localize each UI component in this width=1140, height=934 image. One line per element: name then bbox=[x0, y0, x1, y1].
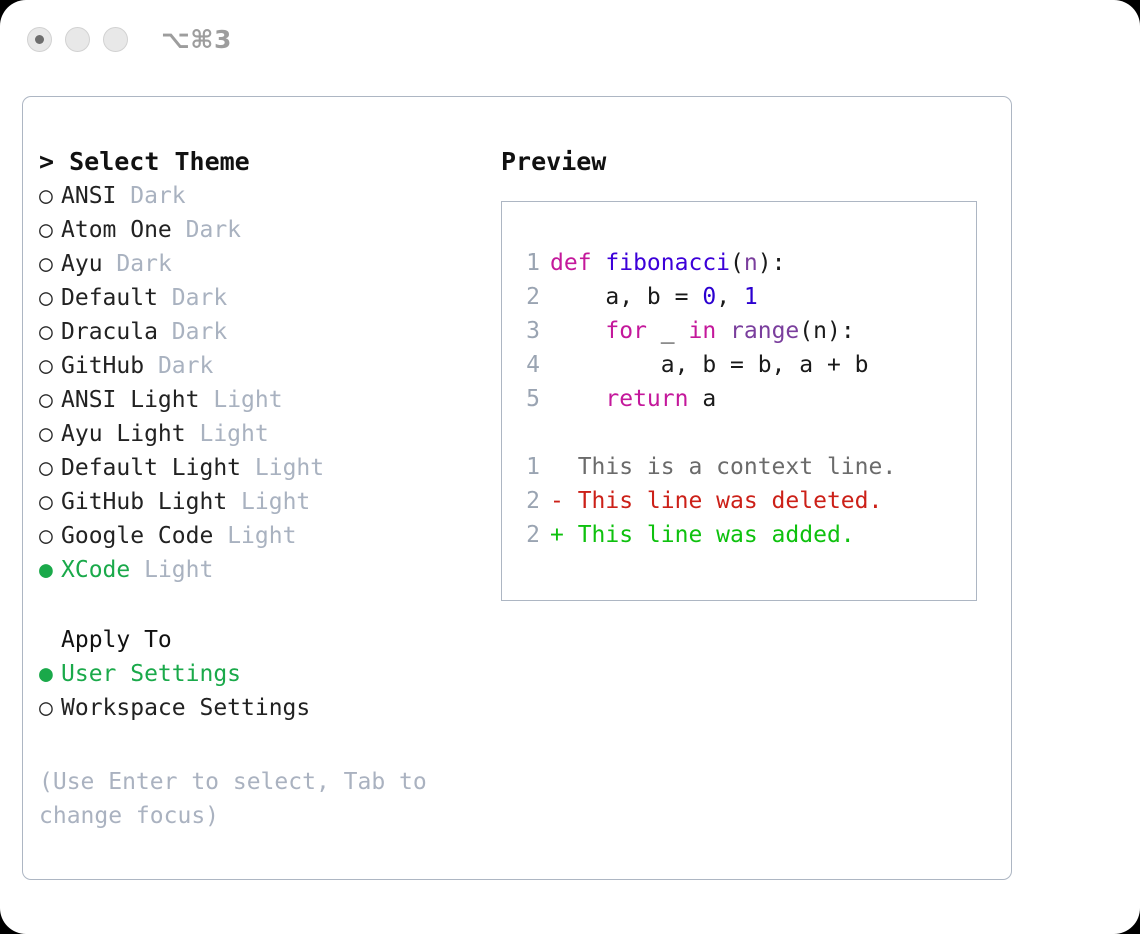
code-token-plain bbox=[550, 386, 605, 412]
theme-name: ANSI Light bbox=[61, 383, 199, 417]
theme-name: Default Light bbox=[61, 451, 241, 485]
radio-unselected-icon: ○ bbox=[39, 417, 61, 451]
theme-list-item[interactable]: ○ANSI Dark bbox=[39, 179, 499, 213]
diff-line: 2- This line was deleted. bbox=[502, 484, 976, 518]
theme-variant-badge: Light bbox=[144, 553, 213, 587]
preview-heading: Preview bbox=[501, 145, 1001, 179]
theme-label-gap bbox=[199, 383, 213, 417]
theme-list-item[interactable]: ○GitHub Light Light bbox=[39, 485, 499, 519]
apply-to-option-label: Workspace Settings bbox=[61, 691, 310, 725]
code-line: 2 a, b = 0, 1 bbox=[502, 280, 976, 314]
code-line-content: a, b = 0, 1 bbox=[550, 280, 758, 314]
main-panel: > Select Theme ○ANSI Dark○Atom One Dark○… bbox=[22, 96, 1012, 880]
theme-name: XCode bbox=[61, 553, 130, 587]
theme-list-item[interactable]: ○Default Dark bbox=[39, 281, 499, 315]
theme-variant-badge: Light bbox=[227, 519, 296, 553]
theme-variant-badge: Light bbox=[255, 451, 324, 485]
preview-box: 1def fibonacci(n):2 a, b = 0, 13 for _ i… bbox=[501, 201, 977, 601]
code-token-plain: ( bbox=[730, 250, 744, 276]
theme-variant-badge: Light bbox=[241, 485, 310, 519]
select-theme-heading: > Select Theme bbox=[39, 145, 499, 179]
theme-label-gap bbox=[116, 179, 130, 213]
theme-label-gap bbox=[227, 485, 241, 519]
code-line-number: 3 bbox=[502, 314, 550, 348]
radio-selected-icon: ● bbox=[39, 657, 61, 691]
theme-label-gap bbox=[130, 553, 144, 587]
diff-line-content: + This line was added. bbox=[550, 518, 855, 552]
theme-label-gap bbox=[186, 417, 200, 451]
preview-column: Preview 1def fibonacci(n):2 a, b = 0, 13… bbox=[501, 145, 1001, 601]
theme-list: ○ANSI Dark○Atom One Dark○Ayu Dark○Defaul… bbox=[39, 179, 499, 587]
code-token-plain: a, b = b, a + b bbox=[550, 352, 869, 378]
code-token-kw: return bbox=[605, 386, 688, 412]
apply-to-list: ●User Settings○Workspace Settings bbox=[39, 657, 499, 725]
code-line-content: for _ in range(n): bbox=[550, 314, 855, 348]
code-token-plain: a, b = bbox=[550, 284, 702, 310]
theme-name: ANSI bbox=[61, 179, 116, 213]
radio-unselected-icon: ○ bbox=[39, 691, 61, 725]
code-sample: 1def fibonacci(n):2 a, b = 0, 13 for _ i… bbox=[502, 246, 976, 416]
code-line: 1def fibonacci(n): bbox=[502, 246, 976, 280]
theme-selection-column: > Select Theme ○ANSI Dark○Atom One Dark○… bbox=[39, 145, 499, 833]
code-line-number: 2 bbox=[502, 280, 550, 314]
record-button[interactable] bbox=[27, 27, 52, 52]
code-token-kw: def bbox=[550, 250, 605, 276]
code-diff-separator bbox=[502, 416, 976, 450]
code-line-number: 1 bbox=[502, 246, 550, 280]
diff-line-number: 2 bbox=[502, 484, 550, 518]
code-token-plain bbox=[716, 318, 730, 344]
theme-name: GitHub Light bbox=[61, 485, 227, 519]
apply-to-heading: Apply To bbox=[39, 623, 499, 657]
radio-unselected-icon: ○ bbox=[39, 349, 61, 383]
theme-name: Ayu bbox=[61, 247, 103, 281]
code-token-plain: (n): bbox=[799, 318, 854, 344]
help-text: (Use Enter to select, Tab to change focu… bbox=[39, 765, 459, 833]
code-line-content: a, b = b, a + b bbox=[550, 348, 869, 382]
radio-unselected-icon: ○ bbox=[39, 281, 61, 315]
code-token-plain: , bbox=[716, 284, 744, 310]
theme-label-gap bbox=[158, 315, 172, 349]
theme-variant-badge: Dark bbox=[130, 179, 185, 213]
code-line-number: 5 bbox=[502, 382, 550, 416]
theme-name: Atom One bbox=[61, 213, 172, 247]
code-token-plain: a bbox=[688, 386, 716, 412]
radio-unselected-icon: ○ bbox=[39, 213, 61, 247]
code-line: 5 return a bbox=[502, 382, 976, 416]
code-token-plain: _ bbox=[647, 318, 689, 344]
apply-to-section: Apply To ●User Settings○Workspace Settin… bbox=[39, 623, 499, 725]
radio-unselected-icon: ○ bbox=[39, 315, 61, 349]
code-token-fn: fibonacci bbox=[605, 250, 730, 276]
diff-line-number: 1 bbox=[502, 450, 550, 484]
theme-label-gap bbox=[172, 213, 186, 247]
code-token-num: 0 bbox=[702, 284, 716, 310]
theme-label-gap bbox=[144, 349, 158, 383]
theme-label-gap bbox=[103, 247, 117, 281]
theme-list-item[interactable]: ○Atom One Dark bbox=[39, 213, 499, 247]
theme-name: GitHub bbox=[61, 349, 144, 383]
theme-list-item[interactable]: ○Google Code Light bbox=[39, 519, 499, 553]
theme-variant-badge: Light bbox=[199, 417, 268, 451]
theme-list-item[interactable]: ○Ayu Dark bbox=[39, 247, 499, 281]
theme-variant-badge: Dark bbox=[186, 213, 241, 247]
keyboard-shortcut-label: ⌥⌘3 bbox=[161, 25, 232, 54]
apply-to-option-label: User Settings bbox=[61, 657, 241, 691]
diff-sample: 1 This is a context line.2- This line wa… bbox=[502, 450, 976, 552]
code-token-plain bbox=[550, 318, 605, 344]
radio-unselected-icon: ○ bbox=[39, 247, 61, 281]
record-dot-icon bbox=[35, 35, 44, 44]
diff-line-content: This is a context line. bbox=[550, 450, 896, 484]
code-line-number: 4 bbox=[502, 348, 550, 382]
theme-variant-badge: Dark bbox=[116, 247, 171, 281]
theme-variant-badge: Dark bbox=[158, 349, 213, 383]
theme-list-item[interactable]: ○Dracula Dark bbox=[39, 315, 499, 349]
theme-list-item[interactable]: ○Default Light Light bbox=[39, 451, 499, 485]
theme-label-gap bbox=[158, 281, 172, 315]
theme-list-item[interactable]: ○GitHub Dark bbox=[39, 349, 499, 383]
code-line-content: def fibonacci(n): bbox=[550, 246, 785, 280]
apply-to-option[interactable]: ○Workspace Settings bbox=[39, 691, 499, 725]
theme-variant-badge: Dark bbox=[172, 281, 227, 315]
code-token-plain: ): bbox=[758, 250, 786, 276]
code-line-content: return a bbox=[550, 382, 716, 416]
diff-line-number: 2 bbox=[502, 518, 550, 552]
code-token-kw: in bbox=[688, 318, 716, 344]
theme-name: Google Code bbox=[61, 519, 213, 553]
apply-to-option[interactable]: ●User Settings bbox=[39, 657, 499, 691]
theme-name: Dracula bbox=[61, 315, 158, 349]
theme-variant-badge: Light bbox=[213, 383, 282, 417]
code-token-var: range bbox=[730, 318, 799, 344]
radio-unselected-icon: ○ bbox=[39, 451, 61, 485]
window-button-three[interactable] bbox=[103, 27, 128, 52]
theme-label-gap bbox=[213, 519, 227, 553]
app-window: ⌥⌘3 > Select Theme ○ANSI Dark○Atom One D… bbox=[0, 0, 1140, 934]
theme-list-item[interactable]: ●XCode Light bbox=[39, 553, 499, 587]
theme-label-gap bbox=[241, 451, 255, 485]
code-token-kw: for bbox=[605, 318, 647, 344]
diff-line: 1 This is a context line. bbox=[502, 450, 976, 484]
radio-unselected-icon: ○ bbox=[39, 383, 61, 417]
code-line: 3 for _ in range(n): bbox=[502, 314, 976, 348]
radio-unselected-icon: ○ bbox=[39, 485, 61, 519]
theme-name: Ayu Light bbox=[61, 417, 186, 451]
window-button-two[interactable] bbox=[65, 27, 90, 52]
diff-line-content: - This line was deleted. bbox=[550, 484, 882, 518]
titlebar: ⌥⌘3 bbox=[0, 0, 1140, 78]
theme-variant-badge: Dark bbox=[172, 315, 227, 349]
traffic-light-group bbox=[27, 27, 128, 52]
code-token-num: 1 bbox=[744, 284, 758, 310]
radio-selected-icon: ● bbox=[39, 553, 61, 587]
theme-list-item[interactable]: ○Ayu Light Light bbox=[39, 417, 499, 451]
code-line: 4 a, b = b, a + b bbox=[502, 348, 976, 382]
theme-list-item[interactable]: ○ANSI Light Light bbox=[39, 383, 499, 417]
radio-unselected-icon: ○ bbox=[39, 519, 61, 553]
code-token-var: n bbox=[744, 250, 758, 276]
radio-unselected-icon: ○ bbox=[39, 179, 61, 213]
theme-name: Default bbox=[61, 281, 158, 315]
diff-line: 2+ This line was added. bbox=[502, 518, 976, 552]
